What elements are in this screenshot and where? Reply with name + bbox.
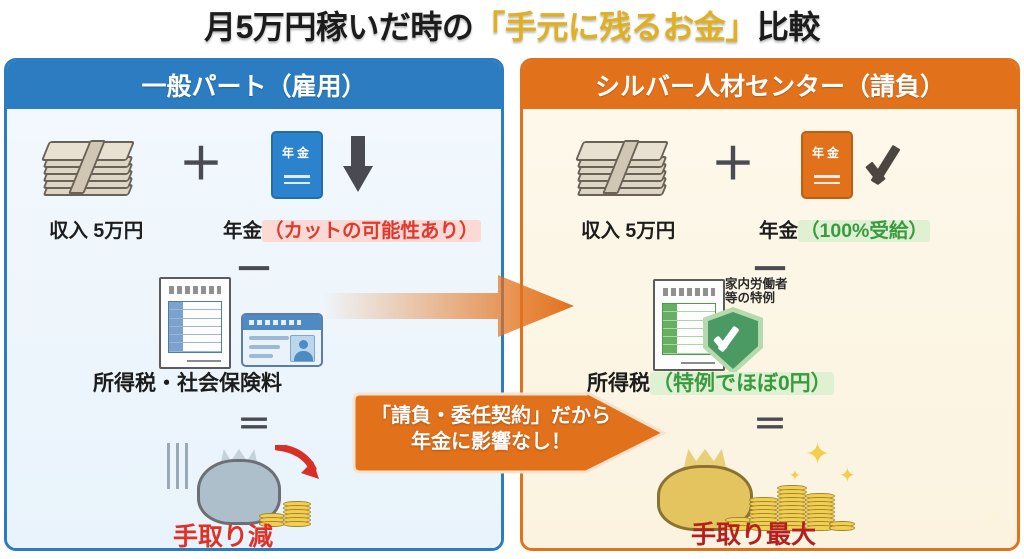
title-prefix: 月5万円稼いだ時の xyxy=(204,9,473,45)
right-panel-body: ＋ 年金 収入 5万円 年金（100%受給） － xyxy=(523,109,1017,548)
pension-book-label: 年金 xyxy=(812,144,842,161)
corner-sparkle-icon: ✦ xyxy=(981,501,1003,532)
health-insurance-card-icon xyxy=(241,313,323,367)
plus-sign: ＋ xyxy=(711,143,755,187)
sparkle-icon xyxy=(789,467,801,484)
right-income-row: ＋ 年金 xyxy=(579,131,915,199)
banner-text: 「請負・委任契約」だから 年金に影響なし！ xyxy=(366,404,616,455)
right-income-caption: 収入 5万円 xyxy=(581,214,675,243)
sparkle-icon xyxy=(839,463,856,488)
transition-arrow-faded xyxy=(322,275,574,337)
banner-line-2: 年金に影響なし！ xyxy=(366,430,616,456)
pension-book-label: 年金 xyxy=(282,144,312,161)
panel-silver-center: シルバー人材センター（請負） ＋ 年金 収入 5万円 年金（100%受給） － xyxy=(520,58,1020,551)
pension-book-icon: 年金 xyxy=(801,131,853,199)
banner-line-1: 「請負・委任契約」だから xyxy=(366,404,616,430)
right-result-label: 手取り最大 xyxy=(691,515,816,551)
plus-sign: ＋ xyxy=(179,143,223,187)
right-panel-header: シルバー人材センター（請負） xyxy=(523,61,1017,109)
title-suffix: 比較 xyxy=(757,9,820,45)
title-accent: 「手元に残るお金」 xyxy=(473,9,757,45)
banknote-bundle-icon xyxy=(579,134,671,196)
check-mark-icon xyxy=(867,142,915,188)
down-arrow-icon xyxy=(343,136,373,194)
left-result-label: 手取り減 xyxy=(173,517,273,551)
right-pension-caption-highlight: （100%受給） xyxy=(798,220,930,242)
left-income-row: ＋ 年金 xyxy=(45,131,465,199)
banknote-bundle-icon xyxy=(45,134,137,196)
left-panel-header: 一般パート（雇用） xyxy=(7,61,501,109)
special-rule-note: 家内労働者 等の特例 xyxy=(725,277,788,306)
sparkle-icon xyxy=(805,437,830,472)
left-deduction-icons xyxy=(159,277,323,369)
pension-book-icon: 年金 xyxy=(271,131,323,199)
shield-check-icon xyxy=(703,307,763,375)
motion-lines-icon xyxy=(167,443,189,489)
left-deduction-caption: 所得税・社会保険料 xyxy=(93,367,282,397)
transition-arrow-banner: 「請負・委任契約」だから 年金に影響なし！ xyxy=(350,392,668,474)
left-result-icon xyxy=(167,439,337,529)
red-down-arrow-icon xyxy=(275,445,321,479)
tax-document-icon xyxy=(159,277,231,369)
page-title: 月5万円稼いだ時の「手元に残るお金」比較 xyxy=(0,2,1024,48)
left-income-caption: 収入 5万円 xyxy=(49,214,143,243)
infographic-root: 月5万円稼いだ時の「手元に残るお金」比較 一般パート（雇用） ＋ 年金 xyxy=(0,0,1024,559)
right-deduction-caption-highlight: （特例でほぼ0円） xyxy=(650,372,834,395)
left-pension-caption-highlight: （カットの可能性あり） xyxy=(262,220,481,242)
